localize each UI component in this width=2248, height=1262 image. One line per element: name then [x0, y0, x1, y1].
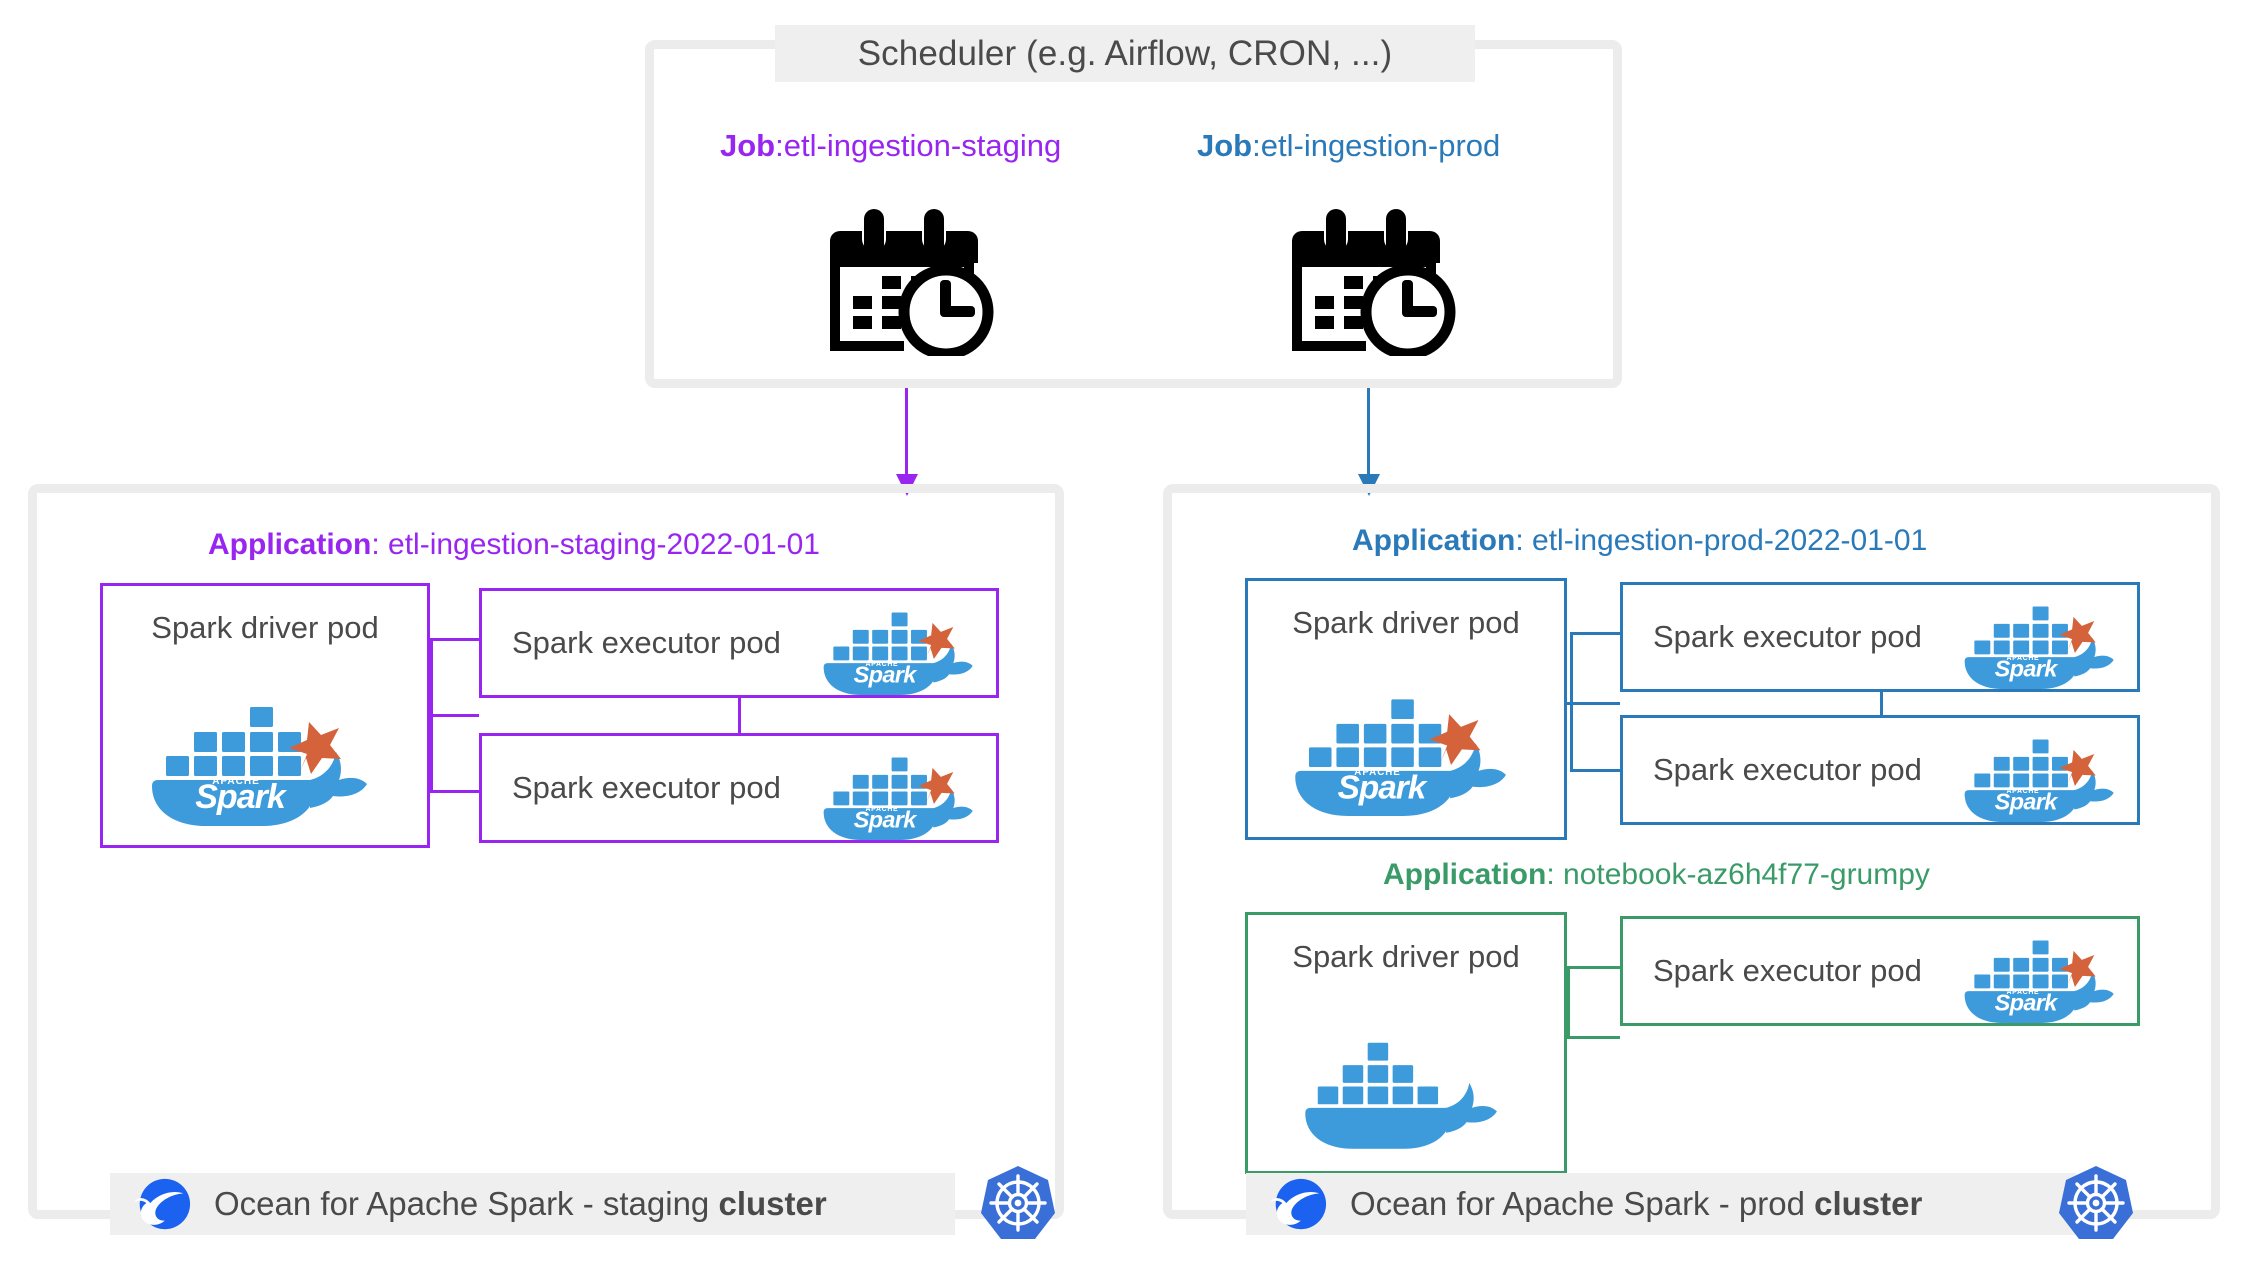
- docker-spark-logo: [150, 676, 380, 826]
- application-prefix: Application: [1352, 524, 1515, 557]
- application-separator: :: [1546, 858, 1563, 891]
- connector-segment: [430, 790, 482, 793]
- spark-driver-pod-prod[interactable]: Spark driver pod: [1245, 578, 1567, 840]
- connector-segment: [1567, 702, 1620, 705]
- cluster-label-bold: cluster: [718, 1185, 826, 1222]
- cluster-label-prefix: Ocean for Apache Spark - staging: [214, 1185, 718, 1222]
- diagram-canvas: Scheduler (e.g. Airflow, CRON, ...) Job:…: [0, 0, 2248, 1262]
- connector-segment: [430, 714, 479, 717]
- pod-label: Spark executor pod: [512, 625, 781, 661]
- job-label-staging: Job: etl-ingestion-staging: [720, 128, 1061, 164]
- spot-ocean-logo: [1266, 1173, 1328, 1235]
- job-separator: :: [775, 128, 784, 164]
- application-prefix: Application: [1383, 858, 1546, 891]
- spark-executor-pod-prod-1[interactable]: Spark executor pod: [1620, 582, 2140, 692]
- docker-spark-logo: [1963, 585, 2123, 689]
- connector-segment: [738, 698, 741, 733]
- pod-label: Spark executor pod: [1653, 752, 1922, 788]
- job-prefix: Job: [1197, 128, 1252, 164]
- docker-logo: [1304, 1015, 1509, 1149]
- application-title-notebook: Application: notebook-az6h4f77-grumpy: [1383, 858, 1930, 892]
- cluster-label: Ocean for Apache Spark - prod cluster: [1350, 1185, 1922, 1223]
- application-name: etl-ingestion-prod-2022-01-01: [1532, 524, 1927, 557]
- docker-spark-logo: [1963, 718, 2123, 822]
- job-separator: :: [1252, 128, 1261, 164]
- spark-driver-pod-staging[interactable]: Spark driver pod: [100, 583, 430, 848]
- job-prefix: Job: [720, 128, 775, 164]
- connector-segment: [1567, 1036, 1620, 1039]
- application-separator: :: [1515, 524, 1532, 557]
- docker-spark-logo: [822, 591, 982, 695]
- connector-segment: [1570, 632, 1622, 635]
- spot-ocean-logo: [130, 1173, 192, 1235]
- cluster-footer-staging: Ocean for Apache Spark - staging cluster: [110, 1173, 955, 1235]
- connector-segment: [1567, 966, 1570, 1039]
- application-name: notebook-az6h4f77-grumpy: [1563, 858, 1930, 891]
- docker-spark-logo: [1293, 669, 1519, 816]
- connector-segment: [1570, 769, 1622, 772]
- docker-spark-logo: [822, 736, 982, 840]
- application-title-staging: Application: etl-ingestion-staging-2022-…: [208, 528, 820, 562]
- cluster-label-prefix: Ocean for Apache Spark - prod: [1350, 1185, 1814, 1222]
- application-prefix: Application: [208, 528, 371, 561]
- docker-spark-logo: [1963, 919, 2123, 1023]
- spark-driver-pod-notebook[interactable]: Spark driver pod: [1245, 912, 1567, 1174]
- pod-label: Spark executor pod: [512, 770, 781, 806]
- pod-label: Spark driver pod: [103, 610, 427, 646]
- connector-segment: [430, 638, 433, 793]
- pod-label: Spark driver pod: [1248, 939, 1564, 975]
- spark-executor-pod-notebook-1[interactable]: Spark executor pod: [1620, 916, 2140, 1026]
- job-name: etl-ingestion-staging: [784, 128, 1061, 164]
- job-label-prod: Job: etl-ingestion-prod: [1197, 128, 1500, 164]
- pod-label: Spark driver pod: [1248, 605, 1564, 641]
- scheduler-title: Scheduler (e.g. Airflow, CRON, ...): [775, 25, 1475, 82]
- spark-executor-pod-staging-1[interactable]: Spark executor pod: [479, 588, 999, 698]
- cluster-label: Ocean for Apache Spark - staging cluster: [214, 1185, 827, 1223]
- spark-executor-pod-staging-2[interactable]: Spark executor pod: [479, 733, 999, 843]
- spark-executor-pod-prod-2[interactable]: Spark executor pod: [1620, 715, 2140, 825]
- cluster-label-bold: cluster: [1814, 1185, 1922, 1222]
- kubernetes-logo: [2056, 1163, 2136, 1243]
- connector-segment: [1567, 966, 1622, 969]
- cluster-footer-prod: Ocean for Apache Spark - prod cluster: [1246, 1173, 2076, 1235]
- application-title-prod: Application: etl-ingestion-prod-2022-01-…: [1352, 524, 1927, 558]
- connector-segment: [430, 638, 482, 641]
- pod-label: Spark executor pod: [1653, 953, 1922, 989]
- job-name: etl-ingestion-prod: [1261, 128, 1501, 164]
- connector-segment: [1880, 692, 1883, 715]
- scheduler-container: [645, 40, 1622, 388]
- application-separator: :: [371, 528, 388, 561]
- pod-label: Spark executor pod: [1653, 619, 1922, 655]
- connector-segment: [1570, 632, 1573, 772]
- kubernetes-logo: [978, 1163, 1058, 1243]
- application-name: etl-ingestion-staging-2022-01-01: [388, 528, 820, 561]
